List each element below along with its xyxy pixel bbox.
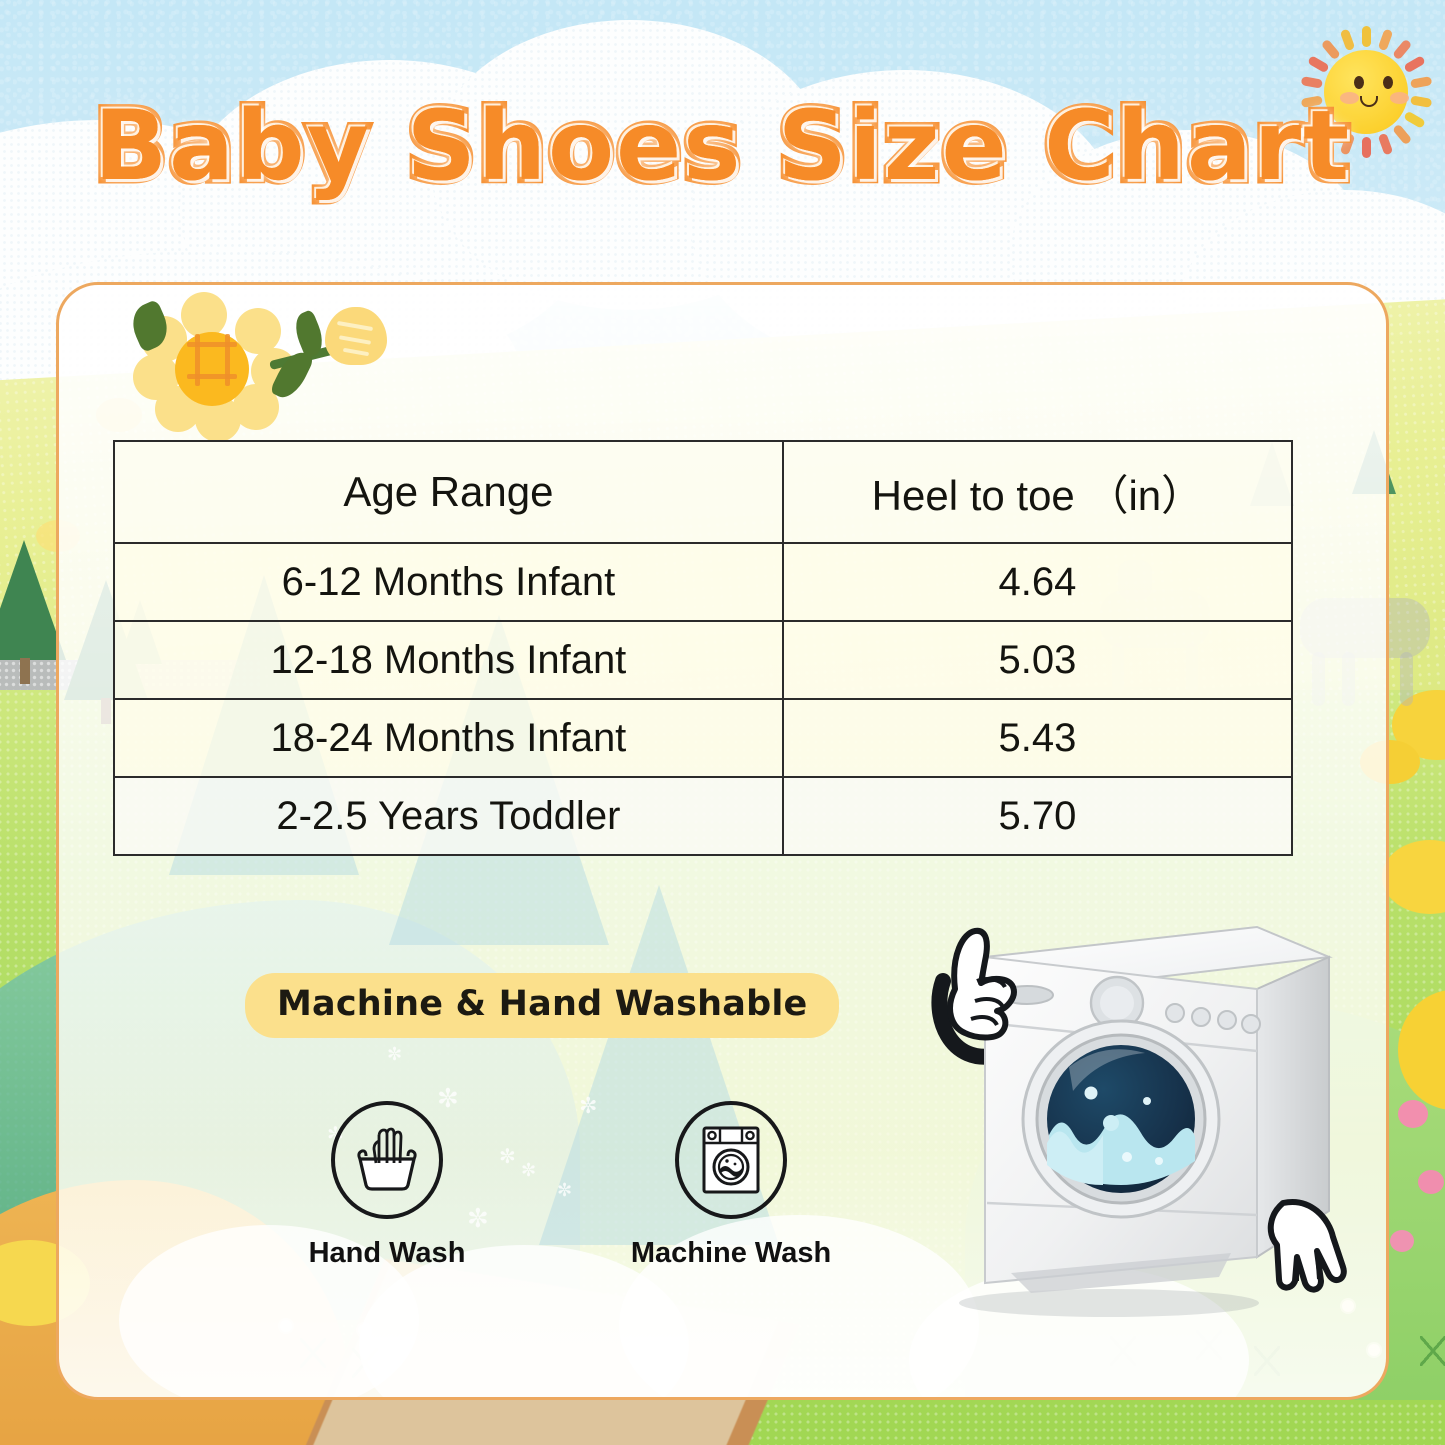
column-header-age-range: Age Range — [114, 441, 783, 543]
care-label-machine-wash: Machine Wash — [581, 1237, 881, 1270]
baby-shoes-size-chart-poster: Baby Shoes Size Chart ✼ ✼ ✼ ✼ ✼ ✼ ✼ ✼ — [0, 0, 1445, 1445]
grass-tuft — [1420, 1336, 1445, 1366]
care-label-hand-wash: Hand Wash — [237, 1237, 537, 1270]
cell-heel-to-toe: 5.43 — [783, 699, 1292, 777]
table-row: 6-12 Months Infant 4.64 — [114, 543, 1292, 621]
size-chart-table: Age Range Heel to toe （in） 6-12 Months I… — [113, 440, 1293, 856]
cell-heel-to-toe: 5.03 — [783, 621, 1292, 699]
content-card: ✼ ✼ ✼ ✼ ✼ ✼ ✼ ✼ — [56, 282, 1389, 1400]
pink-flower — [1418, 1170, 1444, 1194]
machine-wash-icon — [675, 1101, 787, 1219]
snowflake: ✼ — [557, 1181, 572, 1199]
cell-heel-to-toe: 4.64 — [783, 543, 1292, 621]
washable-badge: Machine & Hand Washable — [245, 973, 839, 1038]
cell-age-range: 6-12 Months Infant — [114, 543, 783, 621]
page-title: Baby Shoes Size Chart — [0, 90, 1445, 202]
table-row: 12-18 Months Infant 5.03 — [114, 621, 1292, 699]
table-row: 2-2.5 Years Toddler 5.70 — [114, 777, 1292, 855]
cell-age-range: 12-18 Months Infant — [114, 621, 783, 699]
column-header-heel-to-toe: Heel to toe （in） — [783, 441, 1292, 543]
flower-bud — [325, 307, 387, 365]
sun-eye-right — [1383, 76, 1393, 89]
care-item-machine-wash: Machine Wash — [581, 1101, 881, 1270]
pink-flower — [1390, 1230, 1414, 1252]
tree-trunk — [20, 658, 30, 684]
washing-machine-mascot — [859, 885, 1359, 1325]
grazing-animal — [1400, 652, 1413, 706]
hand-wash-icon — [331, 1101, 443, 1219]
pink-flower — [1398, 1100, 1428, 1128]
table-header-row: Age Range Heel to toe （in） — [114, 441, 1292, 543]
cell-heel-to-toe: 5.70 — [783, 777, 1292, 855]
table-row: 18-24 Months Infant 5.43 — [114, 699, 1292, 777]
cell-age-range: 18-24 Months Infant — [114, 699, 783, 777]
snowflake: ✼ — [387, 1045, 402, 1063]
sunflower-decoration — [129, 290, 389, 420]
sun-eye-left — [1354, 76, 1364, 89]
care-item-hand-wash: Hand Wash — [237, 1101, 537, 1270]
cell-age-range: 2-2.5 Years Toddler — [114, 777, 783, 855]
